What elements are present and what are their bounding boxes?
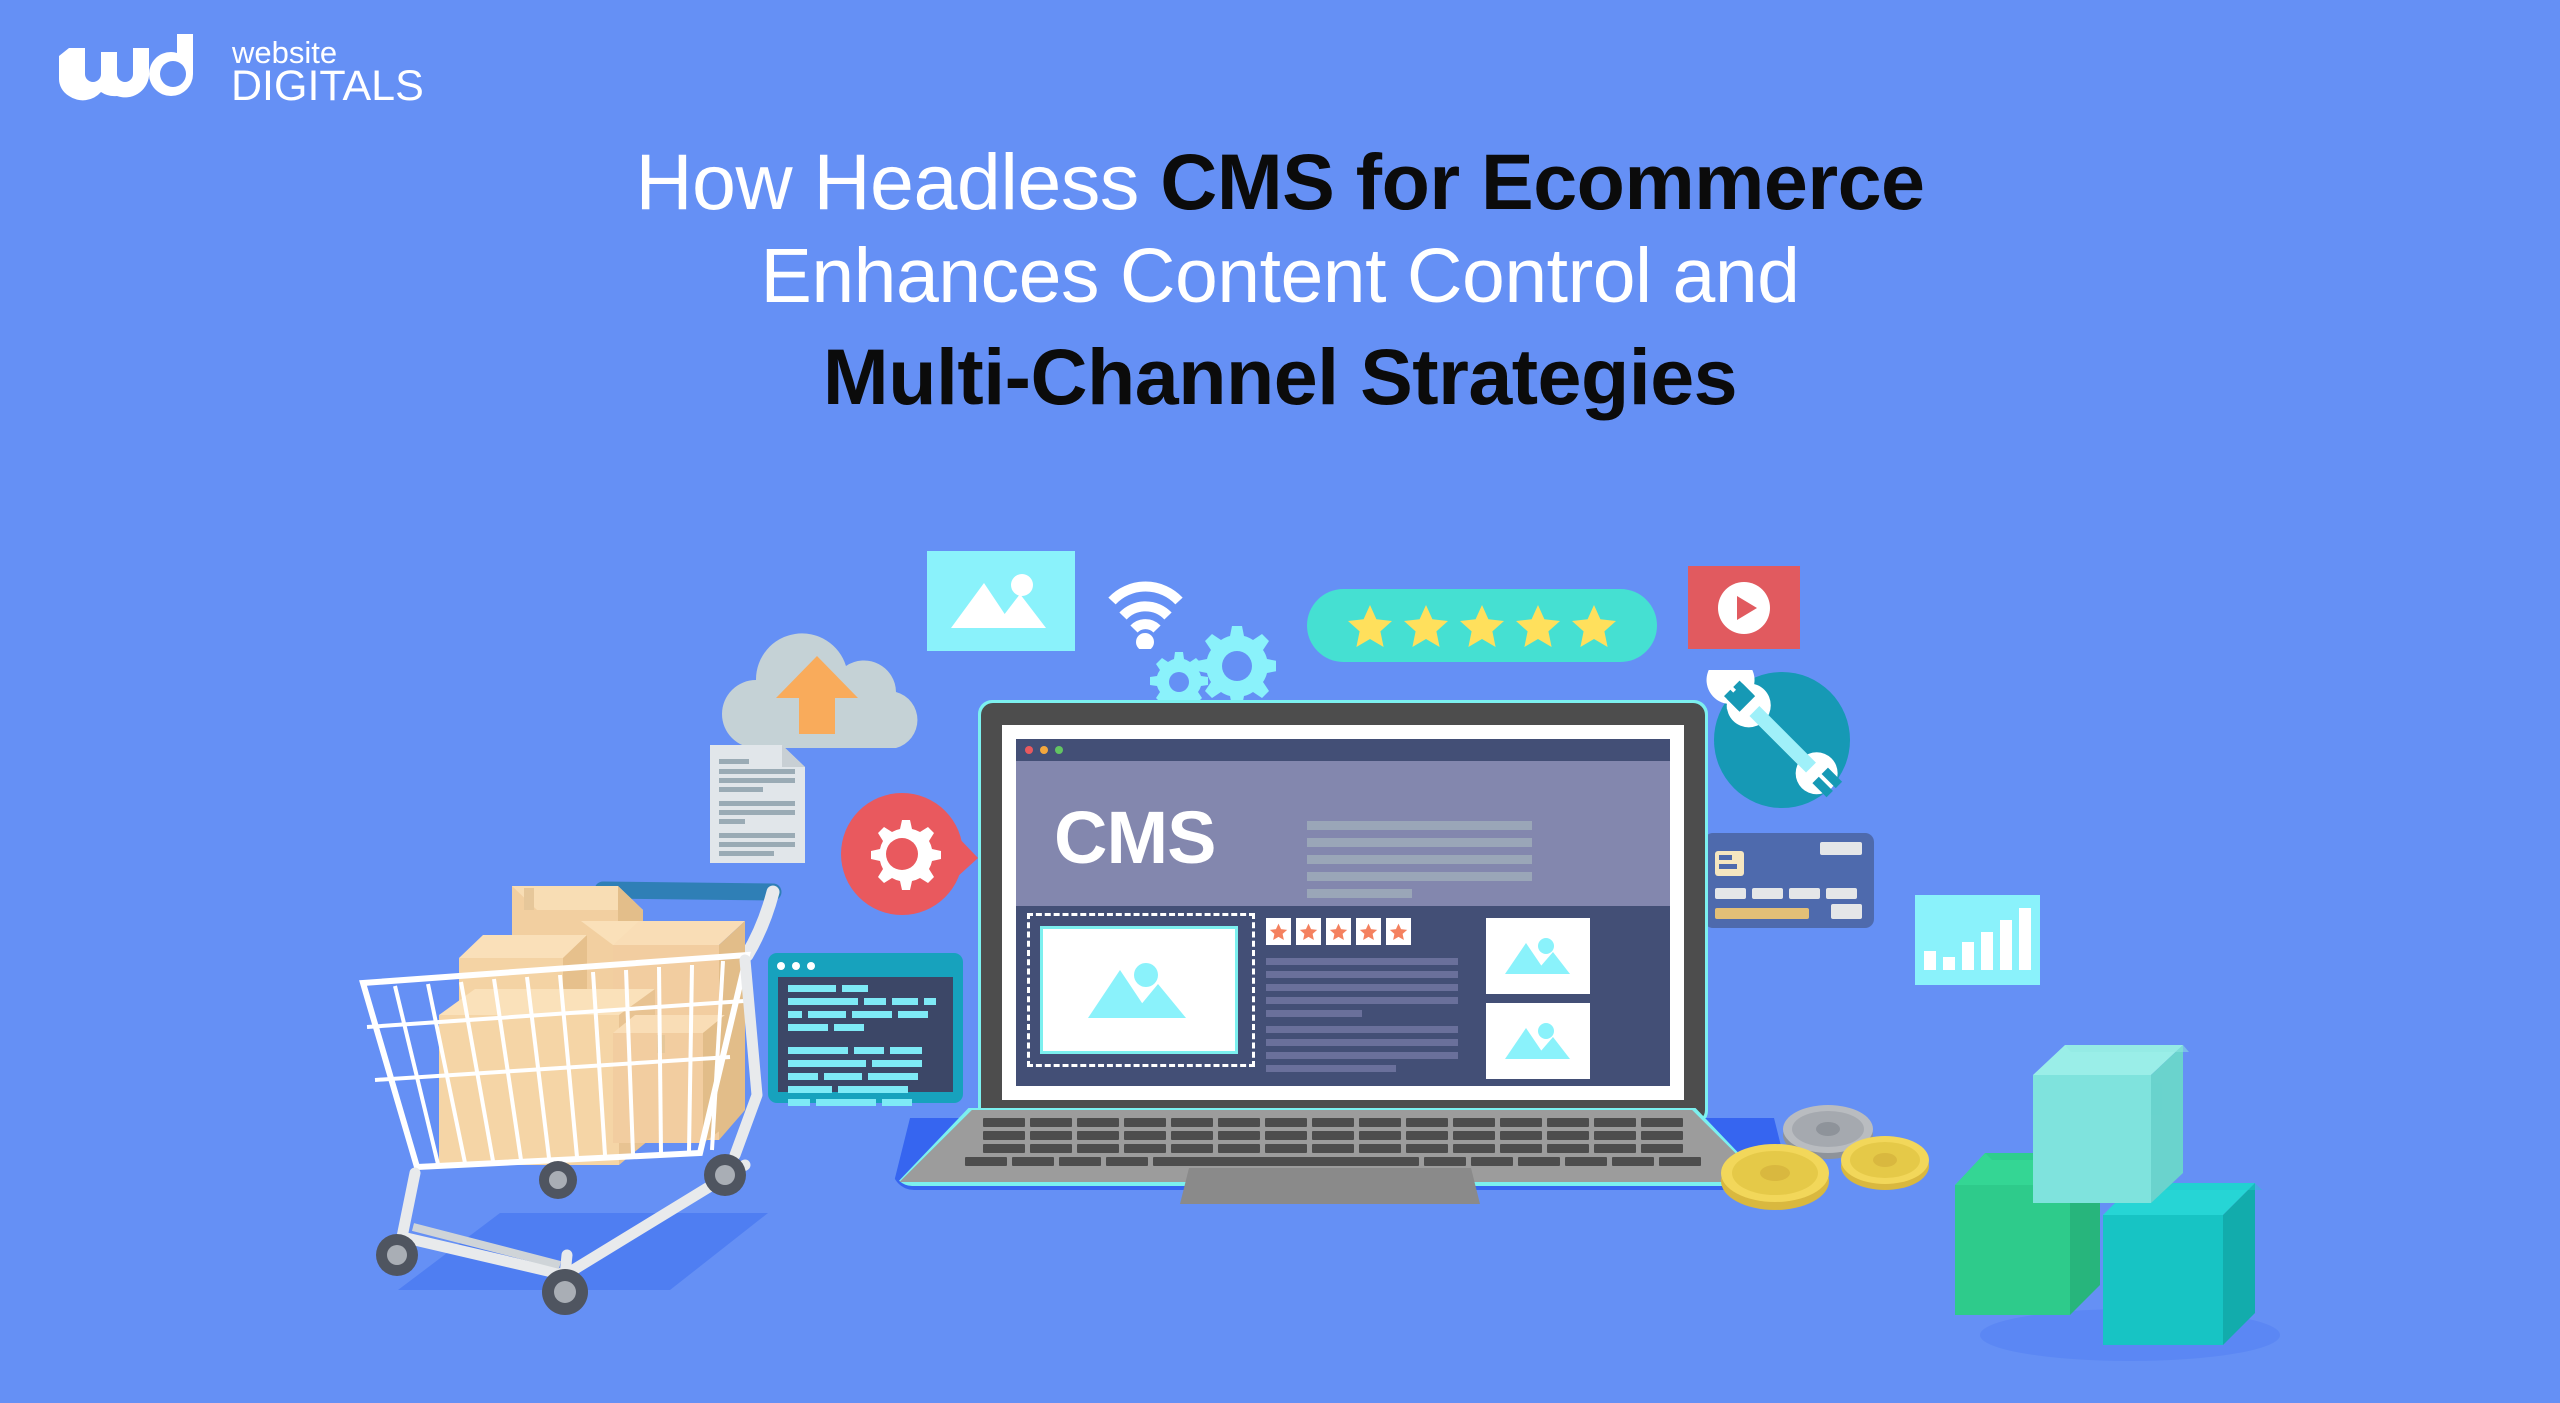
window-maximize-dot[interactable] xyxy=(1055,746,1063,754)
star-icon xyxy=(1269,922,1288,941)
code-dot-1 xyxy=(777,962,785,970)
card-top-strip xyxy=(1820,842,1862,855)
laptop-illustration: CMS xyxy=(880,700,1780,1340)
shopping-cart-icon xyxy=(355,855,815,1325)
code-dot-2 xyxy=(792,962,800,970)
window-close-dot[interactable] xyxy=(1025,746,1033,754)
logo-word-digitals: DIGITALS xyxy=(231,62,424,110)
bar-1 xyxy=(1924,951,1936,970)
media-image-placeholder[interactable] xyxy=(1040,926,1238,1054)
star-icon xyxy=(1389,922,1408,941)
cubes-icon xyxy=(1955,1035,2300,1365)
mountain-glyph xyxy=(946,570,1056,632)
code-dot-3 xyxy=(807,962,815,970)
bar-5 xyxy=(2000,920,2012,970)
star-icon xyxy=(1359,922,1378,941)
hero-text-lines xyxy=(1307,821,1532,906)
product-description-lines xyxy=(1266,958,1458,1078)
page-title: How Headless CMS for Ecommerce Enhances … xyxy=(0,136,2560,423)
mountain-glyph xyxy=(1502,935,1574,977)
keyboard-row xyxy=(950,1144,1716,1153)
spacebar-key[interactable] xyxy=(1153,1157,1419,1166)
star-tile xyxy=(1356,918,1381,945)
title-bold-part: CMS for Ecommerce xyxy=(1160,137,1924,226)
document-icon xyxy=(710,745,805,863)
wd-logo-svg: website DIGITALS xyxy=(55,30,455,110)
code-window-dots xyxy=(777,962,815,970)
window-minimize-dot[interactable] xyxy=(1040,746,1048,754)
title-line-3: Multi-Channel Strategies xyxy=(0,331,2560,423)
laptop-lid: CMS xyxy=(981,703,1705,1122)
mountain-glyph xyxy=(1502,1020,1574,1062)
bar-4 xyxy=(1981,932,1993,970)
poster-canvas: website DIGITALS How Headless CMS for Ec… xyxy=(0,0,2560,1403)
thumbnail-item[interactable] xyxy=(1486,918,1590,994)
keyboard-row xyxy=(950,1131,1716,1140)
screen-hero-section: CMS xyxy=(1016,761,1670,906)
star-tile xyxy=(1296,918,1321,945)
video-play-icon xyxy=(1688,566,1800,649)
star-icon xyxy=(1329,922,1348,941)
bar-chart-icon xyxy=(1915,895,2040,985)
product-rating-stars xyxy=(1266,918,1411,945)
keyboard-row xyxy=(950,1118,1716,1127)
title-light-part: How Headless xyxy=(636,137,1161,226)
play-triangle xyxy=(1737,596,1757,620)
title-line-2: Enhances Content Control and xyxy=(0,232,2560,321)
screen-content-section xyxy=(1016,906,1670,1086)
cms-wordmark: CMS xyxy=(1054,801,1215,875)
coins-icon xyxy=(1720,1090,1950,1220)
star-icon xyxy=(1514,602,1562,650)
play-circle xyxy=(1718,582,1770,634)
laptop-keyboard[interactable] xyxy=(950,1118,1716,1166)
bar-2 xyxy=(1943,957,1955,970)
mountain-glyph xyxy=(1082,958,1197,1023)
star-rating-banner xyxy=(1307,589,1657,662)
keyboard-row xyxy=(950,1157,1716,1166)
image-placeholder-icon xyxy=(927,551,1075,651)
star-icon xyxy=(1402,602,1450,650)
star-icon xyxy=(1299,922,1318,941)
selected-media-region[interactable] xyxy=(1027,913,1255,1067)
star-icon xyxy=(1570,602,1618,650)
thumbnail-item[interactable] xyxy=(1486,1003,1590,1079)
browser-titlebar xyxy=(1016,739,1670,761)
brand-logo[interactable]: website DIGITALS xyxy=(55,30,455,110)
related-thumbnails xyxy=(1486,918,1590,1086)
star-icon xyxy=(1458,602,1506,650)
star-tile xyxy=(1326,918,1351,945)
star-tile xyxy=(1386,918,1411,945)
card-small-strip xyxy=(1831,904,1862,919)
star-tile xyxy=(1266,918,1291,945)
bar-6 xyxy=(2019,908,2031,970)
title-line-1: How Headless CMS for Ecommerce xyxy=(0,136,2560,228)
bar-3 xyxy=(1962,942,1974,970)
laptop-screen[interactable]: CMS xyxy=(1016,739,1670,1086)
laptop-trackpad[interactable] xyxy=(1180,1168,1480,1204)
star-icon xyxy=(1346,602,1394,650)
laptop-bezel: CMS xyxy=(1002,725,1684,1100)
